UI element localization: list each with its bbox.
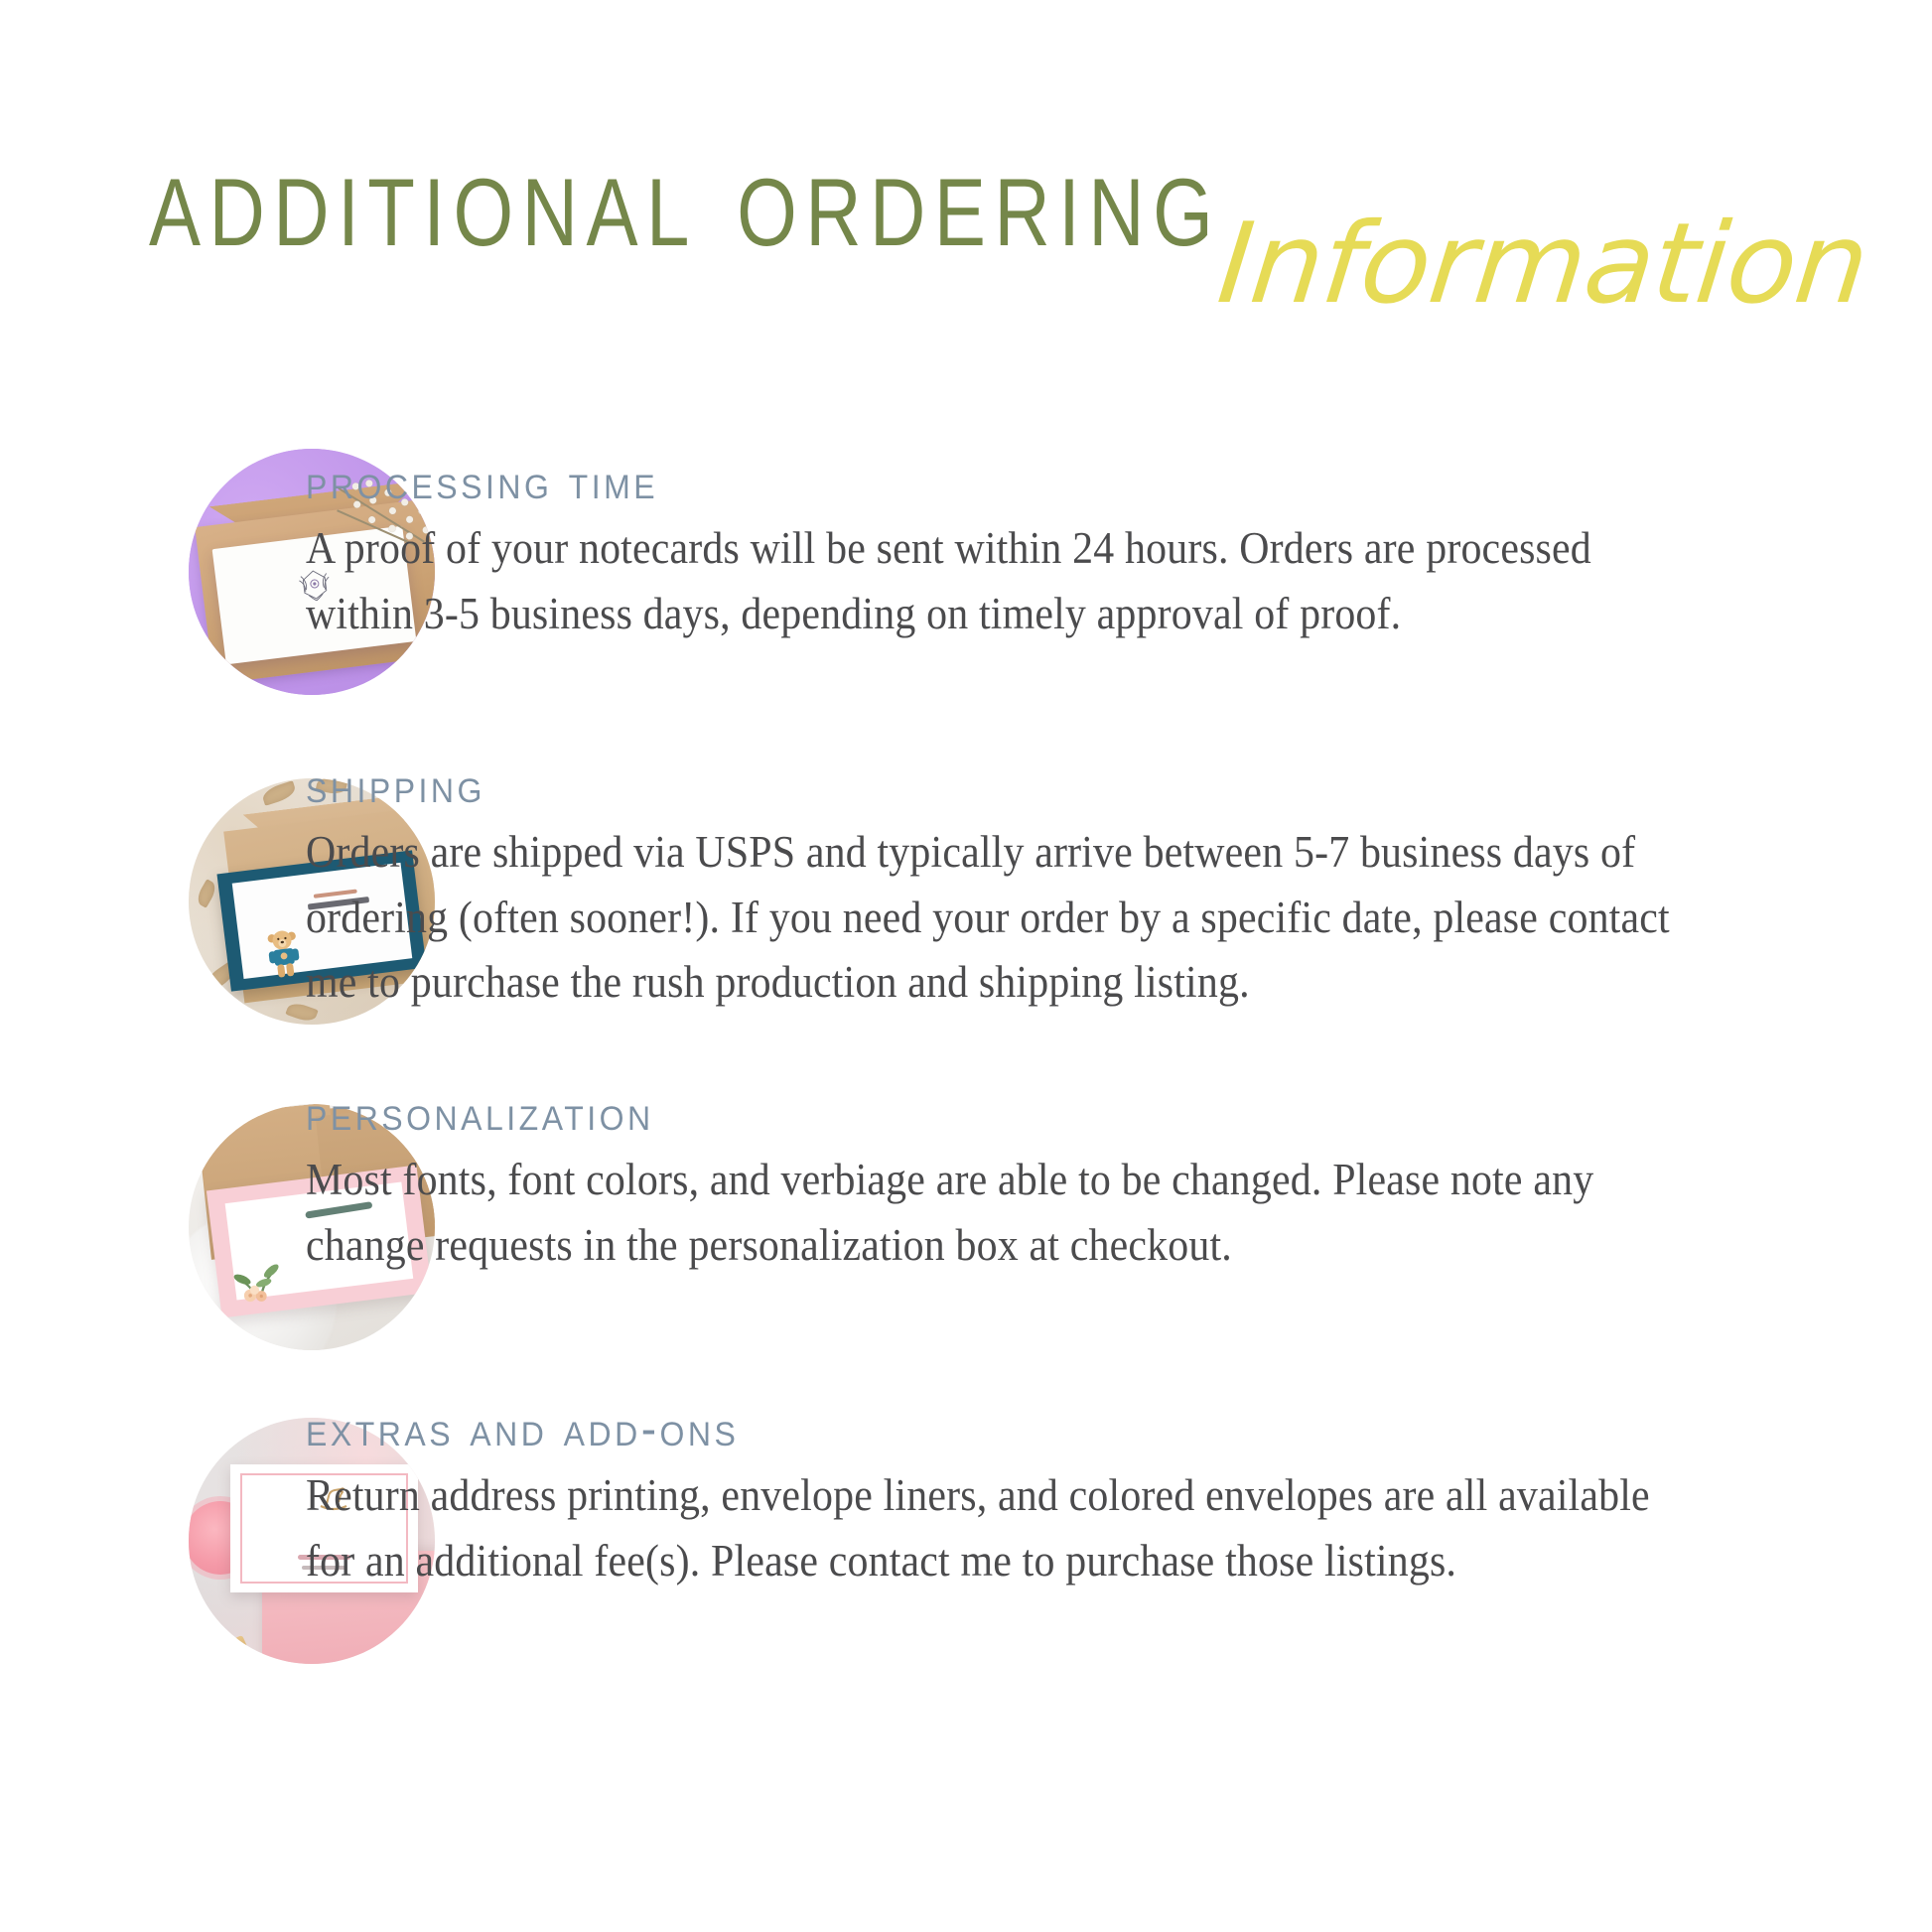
thumbnail-wrap <box>0 1396 248 1664</box>
thumbnail-wrap <box>0 449 248 695</box>
section-text: Return address printing, envelope liners… <box>306 1463 1689 1593</box>
section-personalization: Personalization Most fonts, font colors,… <box>0 1080 1932 1350</box>
section-body: Shipping Orders are shipped via USPS and… <box>248 753 1932 1016</box>
thumbnail-wrap <box>0 1080 248 1350</box>
teddy-bear-icon <box>261 926 305 984</box>
floral-spray-icon <box>230 1257 287 1307</box>
section-heading: Extras and Add-Ons <box>306 1400 1793 1457</box>
page-title-script: Information <box>1213 208 1872 320</box>
page-title-block: Additional Ordering Information <box>0 131 1932 379</box>
section-body: Extras and Add-Ons Return address printi… <box>248 1396 1932 1593</box>
page-title: Additional Ordering <box>149 131 1221 267</box>
ordering-information-page: Additional Ordering Information <box>0 0 1932 1932</box>
section-heading: Shipping <box>306 757 1793 814</box>
sections-list: Processing Time A proof of your notecard… <box>0 449 1932 1722</box>
section-shipping: Shipping Orders are shipped via USPS and… <box>0 753 1932 1025</box>
section-heading: Processing Time <box>306 453 1793 510</box>
section-body: Processing Time A proof of your notecard… <box>248 449 1932 646</box>
section-text: Most fonts, font colors, and verbiage ar… <box>306 1148 1689 1278</box>
thumbnail-wrap <box>0 753 248 1025</box>
section-extras-and-add-ons: Extras and Add-Ons Return address printi… <box>0 1396 1932 1664</box>
section-text: A proof of your notecards will be sent w… <box>306 516 1689 646</box>
section-text: Orders are shipped via USPS and typicall… <box>306 820 1689 1016</box>
section-body: Personalization Most fonts, font colors,… <box>248 1080 1932 1278</box>
section-processing-time: Processing Time A proof of your notecard… <box>0 449 1932 695</box>
section-heading: Personalization <box>306 1084 1793 1142</box>
